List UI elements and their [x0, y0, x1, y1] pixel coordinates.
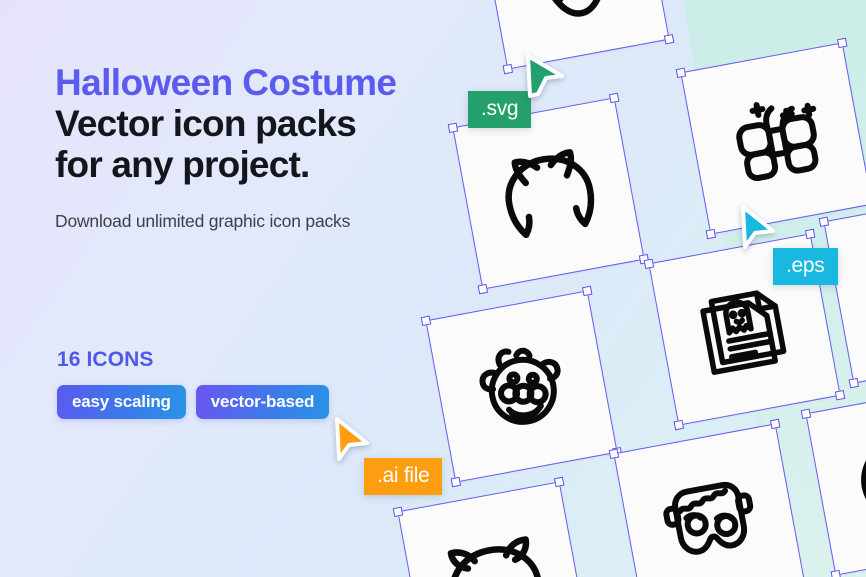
page-title-main: Vector icon packs for any project.	[55, 103, 455, 185]
icon-card-frankenstein-mask[interactable]	[615, 425, 805, 577]
selection-handle[interactable]	[582, 286, 592, 296]
frankenstein-mask-icon	[654, 464, 766, 576]
selection-handle[interactable]	[674, 420, 684, 430]
format-badge-ai[interactable]: .ai file	[364, 458, 442, 495]
selection-handle[interactable]	[451, 477, 461, 487]
icon-card-devil-horns-headband[interactable]	[399, 483, 589, 577]
cat-ears-headband-icon	[493, 138, 605, 250]
cursor-pointer-cyan-icon	[739, 203, 781, 258]
selection-handle[interactable]	[676, 68, 686, 78]
card-surface	[615, 425, 805, 577]
selection-handle[interactable]	[393, 507, 403, 517]
selection-handle[interactable]	[849, 378, 859, 388]
selection-handle[interactable]	[837, 38, 847, 48]
selection-handle[interactable]	[770, 419, 780, 429]
spider-web-icon	[846, 424, 866, 536]
page-title-accent: Halloween Costume	[55, 62, 455, 103]
ghost-document-icon	[689, 274, 801, 386]
selection-handle[interactable]	[609, 93, 619, 103]
sad-theatre-mask-icon	[518, 0, 630, 29]
selection-handle[interactable]	[478, 284, 488, 294]
selection-handle[interactable]	[805, 229, 815, 239]
clown-face-icon	[466, 331, 578, 443]
format-badge-svg[interactable]: .svg	[468, 91, 531, 128]
selection-handle[interactable]	[831, 570, 841, 577]
card-surface	[479, 0, 669, 68]
hero-text-block: Halloween Costume Vector icon packs for …	[55, 62, 455, 232]
cursor-pointer-orange-icon	[333, 415, 375, 470]
butterfly-mask-icon	[719, 81, 833, 195]
selection-handle[interactable]	[801, 409, 811, 419]
icon-card-spider-web[interactable]	[807, 385, 866, 575]
selection-handle[interactable]	[503, 64, 513, 74]
icon-card-sad-theatre-mask[interactable]	[479, 0, 669, 68]
feature-tag-easy-scaling[interactable]: easy scaling	[57, 385, 186, 419]
selection-handle[interactable]	[421, 316, 431, 326]
feature-tag-vector-based[interactable]: vector-based	[196, 385, 329, 419]
selection-handle[interactable]	[819, 217, 829, 227]
devil-horns-headband-icon	[438, 522, 550, 577]
feature-tag-row: easy scaling vector-based	[57, 385, 329, 419]
format-badge-eps[interactable]: .eps	[773, 248, 838, 285]
card-surface	[427, 292, 617, 482]
selection-handle[interactable]	[644, 259, 654, 269]
icon-card-clown-face[interactable]	[427, 292, 617, 482]
selection-handle[interactable]	[835, 390, 845, 400]
card-surface	[399, 483, 589, 577]
selection-handle[interactable]	[609, 449, 619, 459]
selection-handle[interactable]	[554, 477, 564, 487]
hero-subtitle: Download unlimited graphic icon packs	[55, 211, 455, 232]
icon-count-label: 16 ICONS	[57, 348, 154, 372]
promo-banner: Halloween Costume Vector icon packs for …	[0, 0, 866, 577]
selection-handle[interactable]	[664, 34, 674, 44]
cursor-pointer-green-icon	[524, 50, 568, 107]
selection-handle[interactable]	[706, 229, 716, 239]
card-surface	[807, 385, 866, 575]
